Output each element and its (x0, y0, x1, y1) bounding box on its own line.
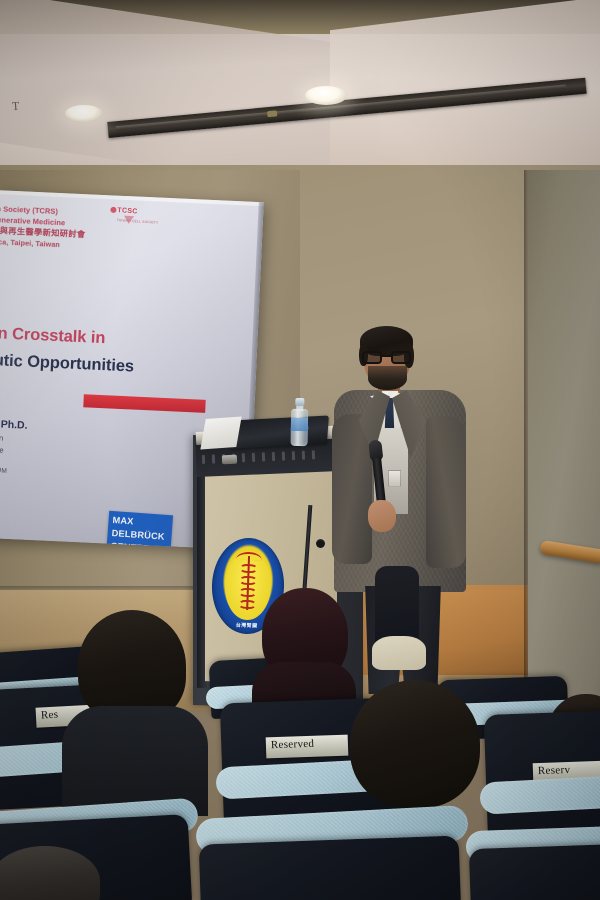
vent-slot (312, 450, 315, 459)
speaker-beard (368, 366, 407, 390)
emblem-serpent-coil-icon (239, 564, 257, 574)
speaker-hand (368, 500, 396, 532)
lectern-control-knob[interactable] (222, 455, 237, 465)
tcsc-chevron-icon (124, 216, 134, 225)
bottle-cap (295, 398, 304, 406)
slide-title: nterorgan Crosstalk in Therapeutic Oppor… (0, 321, 232, 381)
slide-title-line-2: Therapeutic Opportunities (0, 348, 230, 381)
eyeglasses-icon (361, 351, 413, 364)
speaker-right-arm (426, 416, 466, 568)
slide-accent-bar (83, 394, 205, 413)
laptop-paper-stack (200, 417, 241, 450)
chair-back (199, 835, 462, 900)
emblem-serpent-coil-icon (239, 588, 257, 598)
lectern-cable-port (316, 539, 325, 548)
vent-slot (282, 451, 285, 460)
vent-slot (262, 452, 265, 461)
reserved-sign: Reserved (266, 735, 349, 759)
eyeglass-bridge (382, 355, 391, 357)
rail-fitting (267, 110, 278, 117)
slide-title-line-1: nterorgan Crosstalk in (0, 321, 232, 354)
bottle-label (291, 418, 308, 431)
slide-author-block: ...lla M.D., Ph.D. ...l Center Berlin ..… (0, 416, 189, 491)
ceiling: T (0, 0, 600, 185)
vent-slot (272, 451, 275, 460)
ceiling-downlight (305, 86, 347, 105)
chair-back (469, 843, 600, 900)
presentation-photo: T ...on Research Society (TCRS) ...Cells… (0, 0, 600, 900)
vent-slot (212, 454, 215, 463)
tcsc-logo: TCSC TAIWAN CELL SOCIETY (116, 207, 174, 236)
vent-slot (202, 454, 205, 463)
background-seated-person (372, 636, 426, 670)
vent-slot (242, 453, 245, 462)
eyeglass-lens-left (362, 351, 382, 364)
eyeglass-lens-right (391, 351, 411, 364)
vent-slot (252, 452, 255, 461)
emblem-serpent-coil-icon (239, 576, 257, 586)
vent-slot (292, 451, 295, 460)
slide-header: ...on Research Society (TCRS) ...Cells &… (0, 202, 217, 257)
audience-head (350, 680, 480, 808)
water-bottle (291, 398, 309, 446)
vent-slot (302, 450, 305, 459)
ceiling-panel-marking: T (11, 99, 19, 114)
laptop-display[interactable]: ASUS (231, 415, 329, 448)
ceiling-downlight (65, 105, 103, 122)
emblem-serpent-coil-icon (238, 600, 256, 610)
speaker-name-badge (388, 470, 401, 487)
